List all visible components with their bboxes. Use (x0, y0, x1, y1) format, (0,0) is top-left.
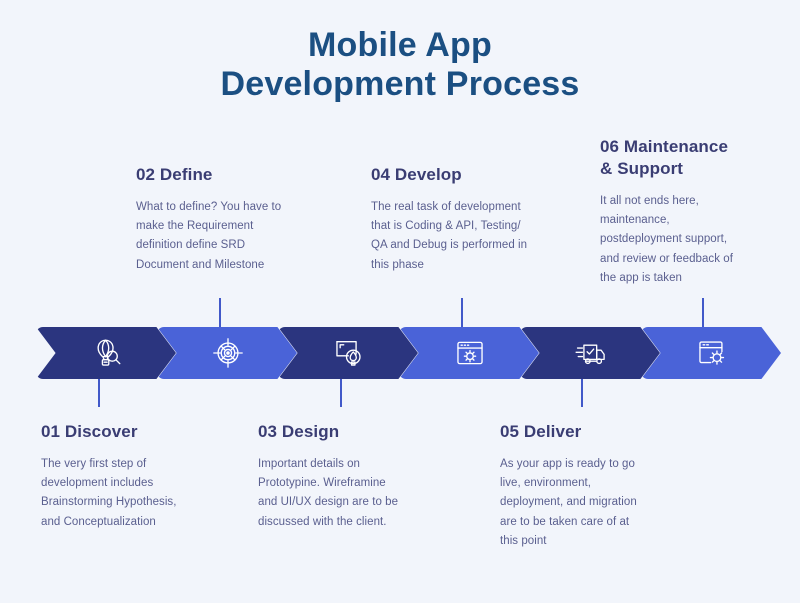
connector-stem-develop (461, 298, 463, 328)
page-title: Mobile App Development Process (0, 26, 800, 104)
connector-stem-define (219, 298, 221, 328)
step-text-define: 02 Define What to define? You have to ma… (136, 164, 286, 275)
delivery-truck-check-icon (574, 336, 608, 370)
chevron-step-design[interactable] (278, 327, 418, 379)
process-chevron-band (0, 327, 800, 379)
step-text-maintenance: 06 Maintenance & Support It all not ends… (600, 136, 740, 288)
title-line-1: Mobile App (0, 26, 800, 65)
step-heading-discover: 01 Discover (41, 421, 186, 443)
step-text-discover: 01 Discover The very first step of devel… (41, 421, 186, 532)
balloon-magnifier-icon (90, 336, 124, 370)
step-body-design: Important details on Prototypine. Wirefr… (258, 455, 408, 532)
step-heading-maintenance: 06 Maintenance & Support (600, 136, 740, 180)
step-body-develop: The real task of development that is Cod… (371, 198, 531, 275)
step-heading-design: 03 Design (258, 421, 408, 443)
infographic-canvas: Mobile App Development Process 02 Define… (0, 0, 800, 603)
browser-gear-large-icon (695, 336, 729, 370)
step-heading-develop: 04 Develop (371, 164, 531, 186)
connector-stem-maintenance (702, 298, 704, 328)
chevron-step-deliver[interactable] (520, 327, 660, 379)
chevron-step-discover[interactable] (36, 327, 176, 379)
step-text-design: 03 Design Important details on Prototypi… (258, 421, 408, 532)
chevron-step-define[interactable] (157, 327, 297, 379)
target-icon (211, 336, 245, 370)
connector-stem-discover (98, 378, 100, 407)
chevron-step-develop[interactable] (399, 327, 539, 379)
title-line-2: Development Process (0, 65, 800, 104)
connector-stem-design (340, 378, 342, 407)
screen-pen-icon (332, 336, 366, 370)
chevron-step-maintenance[interactable] (641, 327, 781, 379)
step-body-discover: The very first step of development inclu… (41, 455, 186, 532)
step-text-develop: 04 Develop The real task of development … (371, 164, 531, 275)
step-text-deliver: 05 Deliver As your app is ready to go li… (500, 421, 650, 551)
step-body-define: What to define? You have to make the Req… (136, 198, 286, 275)
step-heading-define: 02 Define (136, 164, 286, 186)
step-body-maintenance: It all not ends here, maintenance, postd… (600, 192, 740, 288)
step-heading-deliver: 05 Deliver (500, 421, 650, 443)
step-body-deliver: As your app is ready to go live, environ… (500, 455, 650, 551)
connector-stem-deliver (581, 378, 583, 407)
browser-gear-icon (453, 336, 487, 370)
